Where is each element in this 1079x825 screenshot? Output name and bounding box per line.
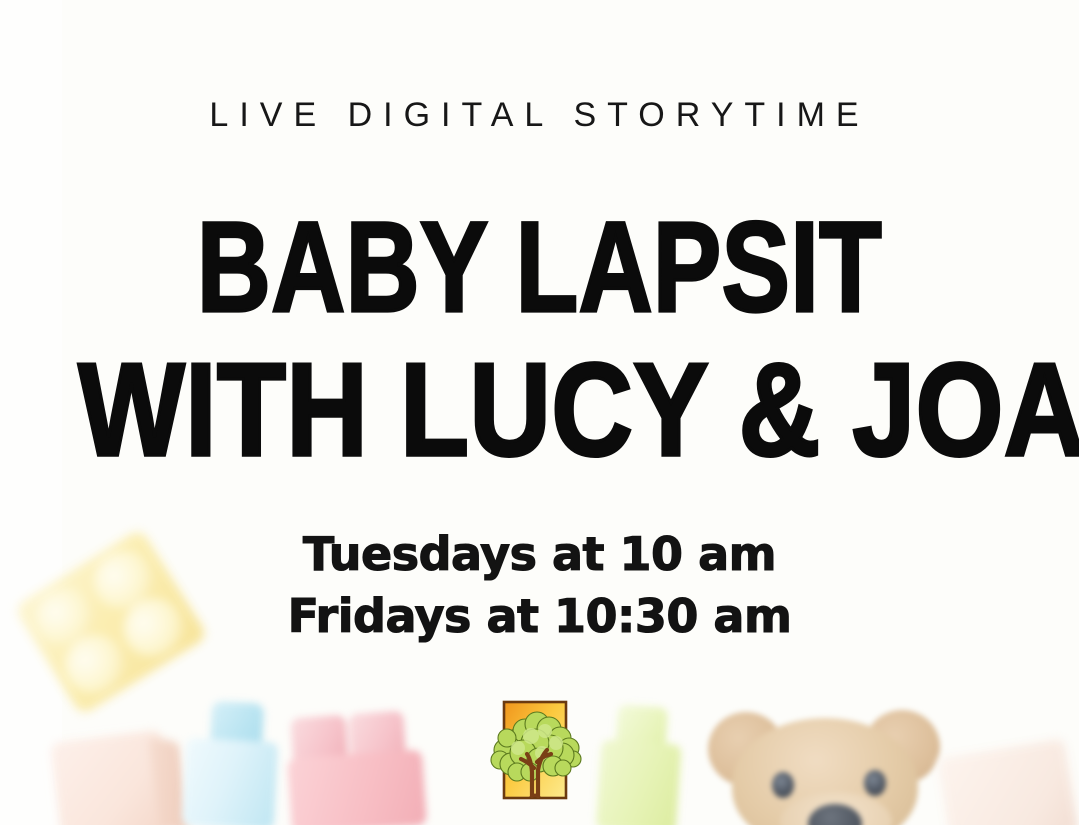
teddy-bear <box>706 694 942 825</box>
lego-green-body <box>596 739 682 825</box>
tree-logo-icon <box>487 698 583 810</box>
wooden-block-cream <box>937 739 1078 825</box>
headline-line-2: WITH LUCY & JOANNE <box>78 346 1001 474</box>
headline-line-1: BABY LAPSIT <box>108 206 971 330</box>
teddy-eye-right <box>864 770 886 796</box>
lego-brick-blue <box>182 700 280 825</box>
teddy-eye-left <box>772 772 794 798</box>
wooden-cube-pink <box>50 730 174 825</box>
block-cream-face <box>937 739 1078 825</box>
lego-blue-body <box>182 738 278 825</box>
eyebrow-text: LIVE DIGITAL STORYTIME <box>0 98 1079 132</box>
storytime-poster: LIVE DIGITAL STORYTIME BABY LAPSIT WITH … <box>0 0 1079 825</box>
page-title: BABY LAPSIT WITH LUCY & JOANNE <box>0 206 1079 474</box>
lego-brick-green <box>596 703 684 825</box>
lego-pink-body <box>287 749 427 825</box>
lego-brick-pink <box>284 709 426 825</box>
